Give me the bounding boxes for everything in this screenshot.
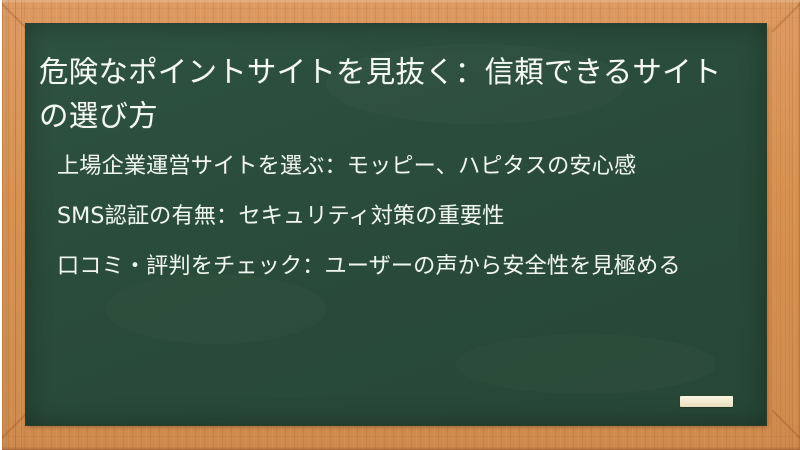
list-item: SMS認証の有無：セキュリティ対策の重要性: [26, 200, 766, 233]
wood-grain-streak: [776, 0, 777, 450]
wood-grain-streak: [2, 444, 800, 445]
chalk-stick-icon: [680, 396, 733, 407]
board-content: 危険なポイントサイトを見抜く：信頼できるサイトの選び方 上場企業運営サイトを選ぶ…: [26, 24, 766, 425]
list-item: 上場企業運営サイトを選ぶ：モッピー、ハピタスの安心感: [26, 150, 766, 183]
wood-grain-streak: [792, 0, 793, 450]
wood-grain-streak: [8, 0, 9, 450]
wood-grain-streak: [15, 0, 16, 450]
wood-grain-streak: [2, 8, 800, 9]
wood-grain-streak: [2, 436, 800, 437]
page-title: 危険なポイントサイトを見抜く：信頼できるサイトの選び方: [39, 50, 745, 138]
list-item: 口コミ・評判をチェック：ユーザーの声から安全性を見極める: [26, 250, 766, 283]
frame-miter-bottom-right: [771, 409, 800, 440]
chalkboard: 危険なポイントサイトを見抜く：信頼できるサイトの選び方 上場企業運営サイトを選ぶ…: [26, 24, 766, 425]
topic-list: 上場企業運営サイトを選ぶ：モッピー、ハピタスの安心感 SMS認証の有無：セキュリ…: [26, 150, 766, 283]
wood-grain-streak: [21, 0, 22, 450]
wood-grain-streak: [2, 17, 800, 18]
frame-miter-top-right: [771, 1, 800, 32]
slide-canvas: 危険なポイントサイトを見抜く：信頼できるサイトの選び方 上場企業運営サイトを選ぶ…: [0, 0, 800, 450]
wood-grain-streak: [785, 0, 786, 450]
wooden-frame: 危険なポイントサイトを見抜く：信頼できるサイトの選び方 上場企業運営サイトを選ぶ…: [2, 0, 800, 450]
